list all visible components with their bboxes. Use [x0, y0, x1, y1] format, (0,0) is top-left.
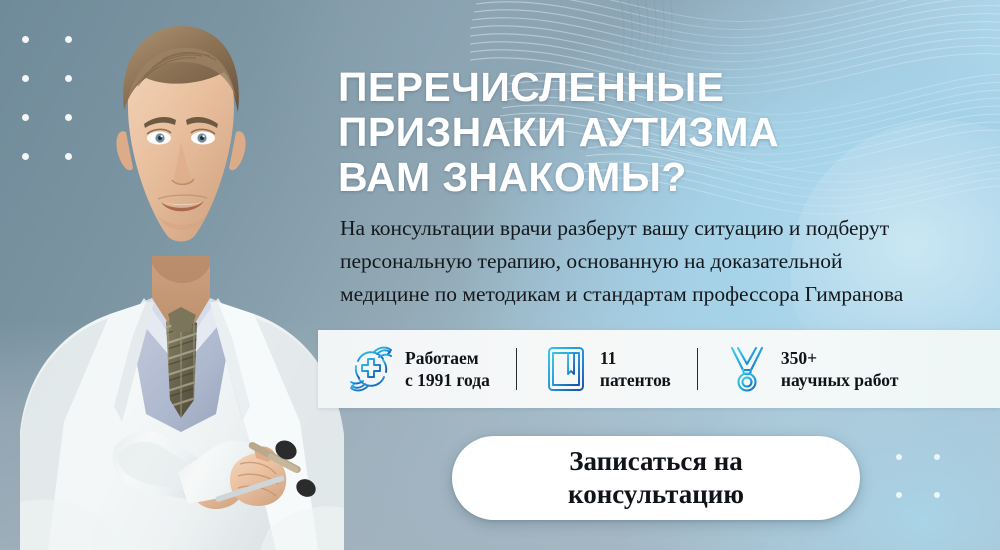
feature-text-publications: 350+ научных работ	[781, 347, 899, 391]
feature-text-experience: Работаем с 1991 года	[405, 347, 490, 391]
patent-document-icon	[543, 344, 589, 394]
headline-line-2: ПРИЗНАКИ АУТИЗМА	[338, 110, 918, 155]
feature-item-publications: 350+ научных работ	[724, 344, 899, 394]
banner-subtext: На консультации врачи разберут вашу ситу…	[340, 212, 920, 311]
headline-line-3: ВАМ ЗНАКОМЫ?	[338, 155, 918, 200]
feature-item-experience: Работаем с 1991 года	[348, 344, 490, 394]
feature-separator-2	[697, 348, 698, 390]
feature-text-patents: 11 патентов	[600, 347, 671, 391]
book-consultation-button[interactable]: Записаться на консультацию	[452, 436, 860, 520]
cta-line-2: консультацию	[568, 478, 744, 511]
banner-headline: ПЕРЕЧИСЛЕННЫЕ ПРИЗНАКИ АУТИЗМА ВАМ ЗНАКО…	[338, 65, 918, 200]
feature-separator-1	[516, 348, 517, 390]
headline-line-1: ПЕРЕЧИСЛЕННЫЕ	[338, 65, 918, 110]
feature-item-patents: 11 патентов	[543, 344, 671, 394]
promo-banner: ПЕРЕЧИСЛЕННЫЕ ПРИЗНАКИ АУТИЗМА ВАМ ЗНАКО…	[0, 0, 1000, 550]
feature-band: Работаем с 1991 года	[318, 330, 1000, 408]
medal-award-icon	[724, 344, 770, 394]
cta-line-1: Записаться на	[569, 445, 743, 478]
medical-cross-hands-icon	[348, 344, 394, 394]
